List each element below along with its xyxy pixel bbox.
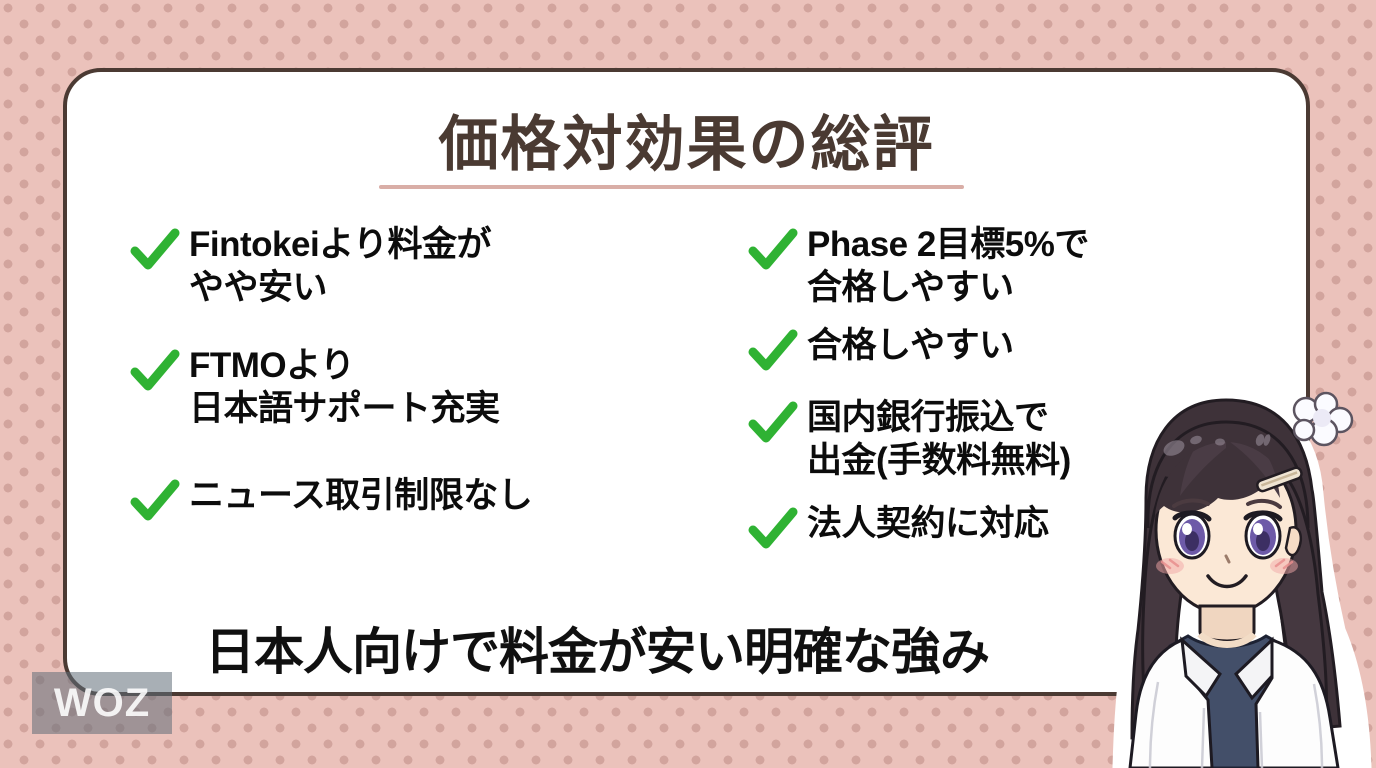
- list-item-label: 合格しやすい: [807, 323, 1014, 368]
- list-item-line: 国内銀行振込で: [807, 397, 1071, 440]
- watermark-label: WOZ: [54, 681, 150, 726]
- feature-column-left: Fintokeiより料金が やや安い FTMOより 日本語サポート充実: [129, 222, 704, 553]
- green-check-icon: [129, 224, 181, 276]
- green-check-icon: [747, 397, 799, 449]
- list-item: FTMOより 日本語サポート充実: [129, 343, 704, 430]
- list-item-line: 合格しやすい: [807, 325, 1014, 368]
- list-item-line: Fintokeiより料金が: [189, 224, 491, 267]
- list-item-line: ニュース取引制限なし: [189, 475, 532, 518]
- green-check-icon: [129, 475, 181, 527]
- list-item: Phase 2目標5%で 合格しやすい: [747, 222, 1247, 309]
- green-check-icon: [129, 345, 181, 397]
- list-item-line: 合格しやすい: [807, 267, 1089, 310]
- list-item-label: Fintokeiより料金が やや安い: [189, 222, 491, 309]
- list-item-label: 法人契約に対応: [807, 501, 1049, 546]
- summary-statement: 日本人向けで料金が安い明確な強み: [67, 612, 1127, 684]
- list-item: 合格しやすい: [747, 323, 1247, 377]
- list-item-label: Phase 2目標5%で 合格しやすい: [807, 222, 1089, 309]
- watermark-logo: WOZ: [32, 672, 172, 734]
- green-check-icon: [747, 503, 799, 555]
- list-item-label: ニュース取引制限なし: [189, 473, 532, 518]
- green-check-icon: [747, 224, 799, 276]
- list-item-line: FTMOより: [189, 345, 500, 388]
- list-item-line: 法人契約に対応: [807, 503, 1049, 546]
- page-title: 価格対効果の総評: [67, 96, 1306, 183]
- list-item: ニュース取引制限なし: [129, 473, 704, 527]
- list-item-line: Phase 2目標5%で: [807, 224, 1089, 267]
- list-item-line: 出金(手数料無料): [807, 440, 1071, 483]
- title-underline-divider: [379, 185, 964, 189]
- list-item-line: やや安い: [189, 267, 491, 310]
- list-item: Fintokeiより料金が やや安い: [129, 222, 704, 309]
- green-check-icon: [747, 325, 799, 377]
- list-item-line: 日本語サポート充実: [189, 388, 500, 431]
- anime-lab-coat-girl-illustration: [1108, 378, 1376, 768]
- list-item-label: 国内銀行振込で 出金(手数料無料): [807, 395, 1071, 482]
- list-item-label: FTMOより 日本語サポート充実: [189, 343, 500, 430]
- slide-canvas: 価格対効果の総評 Fintokeiより料金が やや安い FTMOより 日本語サポ…: [0, 0, 1376, 768]
